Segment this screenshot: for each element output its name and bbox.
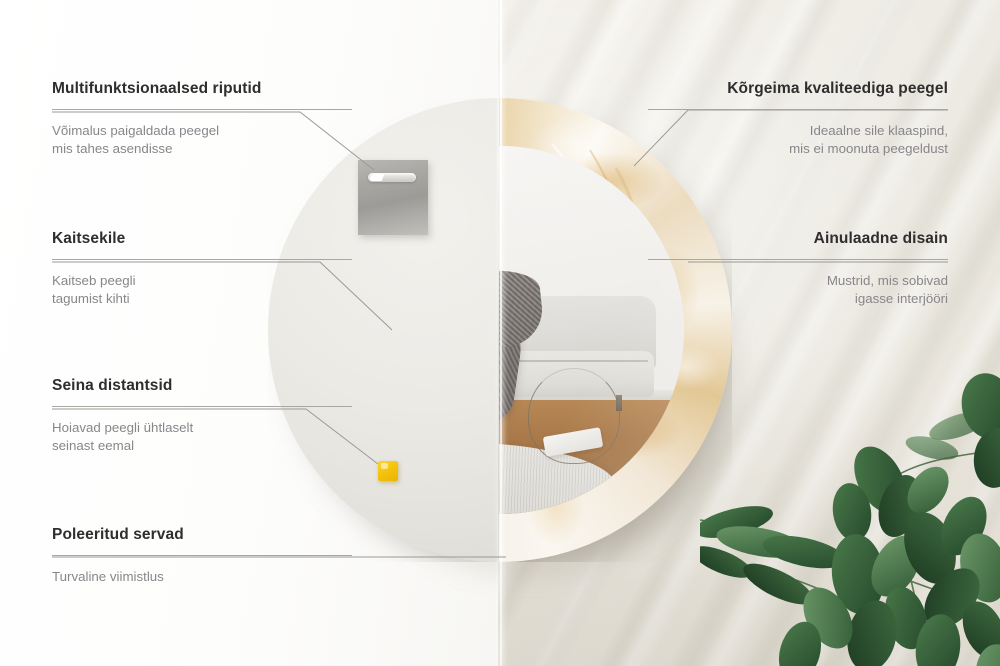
callout-title: Multifunktsionaalsed riputid (52, 80, 352, 99)
callout-title: Kõrgeima kvaliteediga peegel (648, 80, 948, 99)
callout-body-line: Ideaalne sile klaaspind, (648, 122, 948, 141)
callout-multifunktsionaalsed-riputid: Multifunktsionaalsed riputid Võimalus pa… (52, 80, 352, 159)
panel-divider (500, 0, 502, 666)
foliage-branch (700, 330, 1000, 666)
callout-body: Mustrid, mis sobivad igasse interjööri (648, 272, 948, 310)
callout-rule (648, 259, 948, 260)
callout-body: Kaitseb peegli tagumist kihti (52, 272, 352, 310)
callout-title: Ainulaadne disain (648, 230, 948, 249)
callout-body-line: seinast eemal (52, 437, 352, 456)
callout-body-line: Turvaline viimistlus (52, 568, 352, 587)
callout-body-line: Võimalus paigaldada peegel (52, 122, 352, 141)
callout-seina-distantsid: Seina distantsid Hoiavad peegli ühtlasel… (52, 377, 352, 456)
callout-body: Võimalus paigaldada peegel mis tahes ase… (52, 122, 352, 160)
callout-body-line: mis ei moonuta peegeldust (648, 140, 948, 159)
callout-poleeritud-servad: Poleeritud servad Turvaline viimistlus (52, 526, 352, 586)
callout-title: Seina distantsid (52, 377, 352, 396)
callout-title: Kaitsekile (52, 230, 352, 249)
callout-body-line: Kaitseb peegli (52, 272, 352, 291)
callout-korgeima-kvaliteediga-peegel: Kõrgeima kvaliteediga peegel Ideaalne si… (648, 80, 948, 159)
callout-rule (648, 109, 948, 110)
callout-body-line: tagumist kihti (52, 290, 352, 309)
callout-rule (52, 555, 352, 556)
callout-kaitsekile: Kaitsekile Kaitseb peegli tagumist kihti (52, 230, 352, 309)
callout-body-line: Mustrid, mis sobivad (648, 272, 948, 291)
callout-body-line: igasse interjööri (648, 290, 948, 309)
callout-body: Ideaalne sile klaaspind, mis ei moonuta … (648, 122, 948, 160)
callout-rule (52, 259, 352, 260)
callout-body: Turvaline viimistlus (52, 568, 352, 587)
callout-body-line: Hoiavad peegli ühtlaselt (52, 419, 352, 438)
callout-body: Hoiavad peegli ühtlaselt seinast eemal (52, 419, 352, 457)
infographic-stage: Multifunktsionaalsed riputid Võimalus pa… (0, 0, 1000, 666)
callout-rule (52, 406, 352, 407)
hanger-keyhole-slot (368, 173, 416, 182)
callout-title: Poleeritud servad (52, 526, 352, 545)
callout-body-line: mis tahes asendisse (52, 140, 352, 159)
hanger-plate (358, 160, 428, 235)
wall-spacer-highlight (381, 463, 388, 469)
callout-ainulaadne-disain: Ainulaadne disain Mustrid, mis sobivad i… (648, 230, 948, 309)
callout-rule (52, 109, 352, 110)
